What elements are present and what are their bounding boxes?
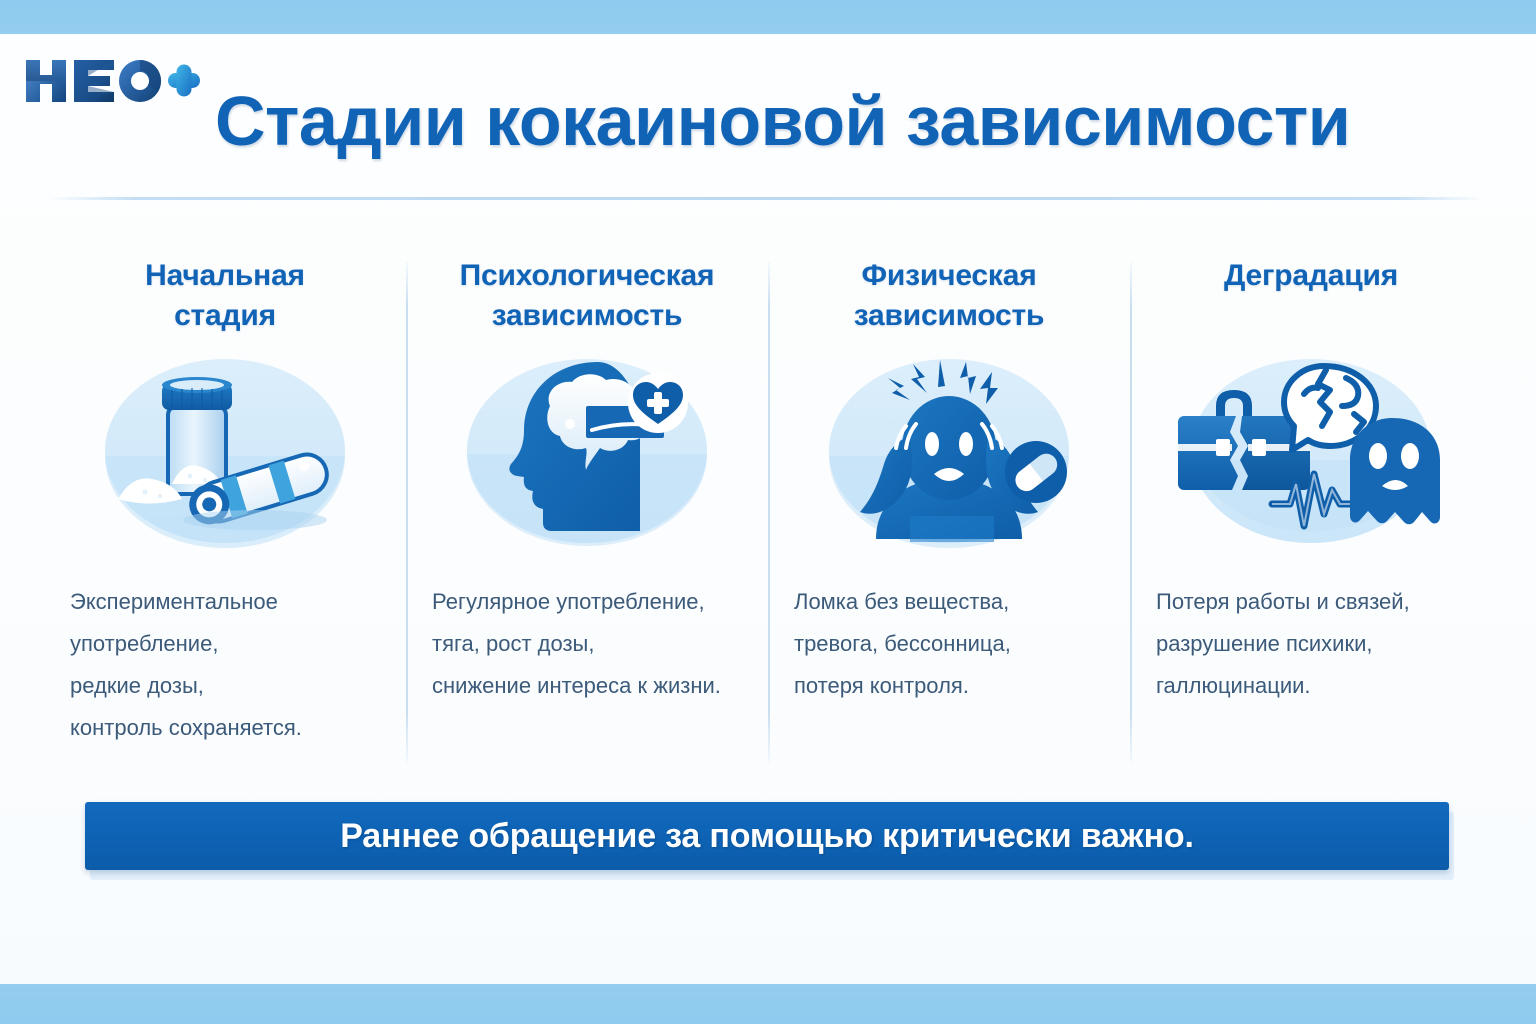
call-to-action-banner: Раннее обращение за помощью критически в… — [85, 802, 1449, 870]
call-to-action-text: Раннее обращение за помощью критически в… — [340, 817, 1193, 856]
distressed-person-headache-pill-icon — [814, 344, 1084, 559]
stage-1-body-line: употребление, — [70, 623, 392, 665]
bottom-accent-bar — [0, 984, 1536, 1024]
stage-3-heading: Физическая зависимость — [854, 256, 1045, 340]
stage-card-3: Физическая зависимость — [768, 256, 1130, 768]
stage-1-heading-line1: Начальная — [145, 259, 305, 292]
stage-2-heading-line2: зависимость — [460, 296, 715, 336]
stage-card-1: Начальная стадия — [44, 256, 406, 768]
stage-1-body-line: Экспериментальное — [70, 581, 392, 623]
neo-plus-logo — [22, 52, 202, 110]
stage-4-heading: Деградация — [1224, 256, 1398, 340]
stage-1-body-line: контроль сохраняется. — [70, 707, 392, 749]
stage-2-heading-line1: Психологическая — [460, 259, 715, 292]
stage-2-body: Регулярное употребление, тяга, рост дозы… — [420, 581, 754, 707]
stage-1-heading: Начальная стадия — [145, 256, 305, 340]
stage-4-body: Потеря работы и связей, разрушение психи… — [1144, 581, 1478, 707]
stage-1-body: Экспериментальное употребление, редкие д… — [58, 581, 392, 749]
stage-1-heading-line2: стадия — [145, 296, 305, 336]
powder-jar-and-rolled-banknote-icon — [90, 344, 360, 559]
stage-4-body-line: Потеря работы и связей, — [1156, 581, 1478, 623]
stage-card-4: Деградация — [1130, 256, 1492, 768]
stage-card-2: Психологическая зависимость — [406, 256, 768, 768]
stage-2-body-line: снижение интереса к жизни. — [432, 665, 754, 707]
stage-4-body-line: галлюцинации. — [1156, 665, 1478, 707]
stage-3-body-line: Ломка без вещества, — [794, 581, 1116, 623]
stage-2-body-line: Регулярное употребление, — [432, 581, 754, 623]
stages-row: Начальная стадия — [44, 256, 1492, 768]
title-divider — [50, 197, 1482, 200]
stage-1-body-line: редкие дозы, — [70, 665, 392, 707]
stage-3-body-line: потеря контроля. — [794, 665, 1116, 707]
page-title: Стадии кокаиновой зависимости — [215, 78, 1505, 164]
stage-4-body-line: разрушение психики, — [1156, 623, 1478, 665]
top-accent-bar — [0, 0, 1536, 34]
stage-3-body: Ломка без вещества, тревога, бессонница,… — [782, 581, 1116, 707]
stage-3-heading-line1: Физическая — [862, 259, 1037, 292]
head-brain-heart-plus-icon — [452, 344, 722, 559]
stage-4-heading-line1: Деградация — [1224, 259, 1398, 292]
stage-3-body-line: тревога, бессонница, — [794, 623, 1116, 665]
stage-2-heading: Психологическая зависимость — [460, 256, 715, 340]
stage-3-heading-line2: зависимость — [854, 296, 1045, 336]
infographic-poster: Стадии кокаиновой зависимости Начальная … — [0, 0, 1536, 1024]
broken-briefcase-cracked-brain-ghost-icon — [1176, 344, 1446, 559]
stage-2-body-line: тяга, рост дозы, — [432, 623, 754, 665]
